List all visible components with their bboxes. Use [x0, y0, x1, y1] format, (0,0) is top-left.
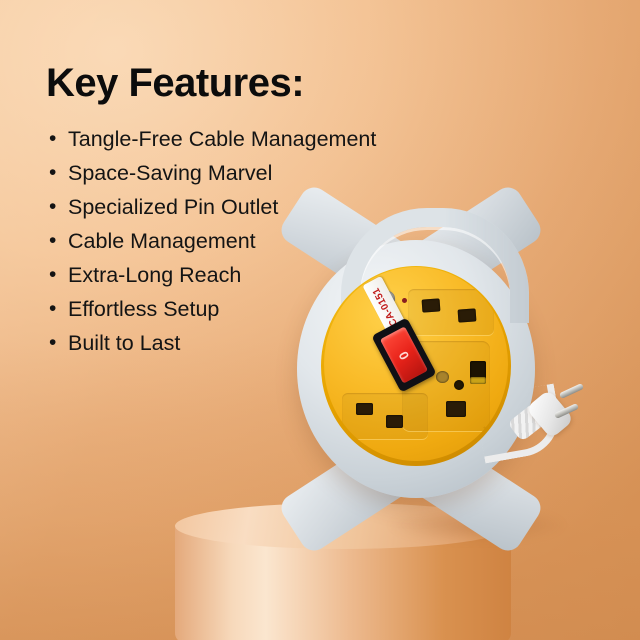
- bullet-icon: •: [49, 224, 56, 258]
- feature-item-label: Built to Last: [68, 331, 180, 355]
- socket-hole-top-left: [422, 298, 441, 312]
- feature-item: •Space-Saving Marvel: [46, 156, 416, 190]
- product-feature-banner: CCA-0151 0 Key Features: •Tangle-Free Ca…: [0, 0, 640, 640]
- feature-item: •Built to Last: [46, 326, 416, 360]
- socket-hole-bottom-left: [356, 403, 373, 415]
- socket-hole-top-right: [458, 308, 477, 322]
- feature-list: •Tangle-Free Cable Management•Space-Savi…: [46, 122, 416, 360]
- feature-item-label: Effortless Setup: [68, 297, 219, 321]
- socket-hole-bottom-right: [386, 415, 403, 428]
- feature-item-label: Space-Saving Marvel: [68, 161, 272, 185]
- feature-item-label: Cable Management: [68, 229, 256, 253]
- socket-hole-center-round-small: [454, 380, 464, 390]
- feature-item: •Specialized Pin Outlet: [46, 190, 416, 224]
- feature-item: •Effortless Setup: [46, 292, 416, 326]
- socket-hole-center-lower: [446, 401, 466, 417]
- bullet-icon: •: [49, 326, 56, 360]
- feature-item-label: Specialized Pin Outlet: [68, 195, 278, 219]
- bullet-icon: •: [49, 122, 56, 156]
- bullet-icon: •: [49, 292, 56, 326]
- feature-item-label: Extra-Long Reach: [68, 263, 241, 287]
- socket-hole-center-round-mid: [436, 371, 449, 383]
- feature-text-block: Key Features: •Tangle-Free Cable Managem…: [46, 62, 416, 360]
- bullet-icon: •: [49, 156, 56, 190]
- plug-pin-top: [559, 383, 584, 399]
- feature-item: •Tangle-Free Cable Management: [46, 122, 416, 156]
- page-title: Key Features:: [46, 62, 416, 104]
- socket-hole-center-flat-right-accent: [470, 377, 486, 384]
- bullet-icon: •: [49, 258, 56, 292]
- bullet-icon: •: [49, 190, 56, 224]
- socket-plate-universal-top: [408, 289, 494, 335]
- feature-item: •Extra-Long Reach: [46, 258, 416, 292]
- feature-item-label: Tangle-Free Cable Management: [68, 127, 376, 151]
- feature-item: •Cable Management: [46, 224, 416, 258]
